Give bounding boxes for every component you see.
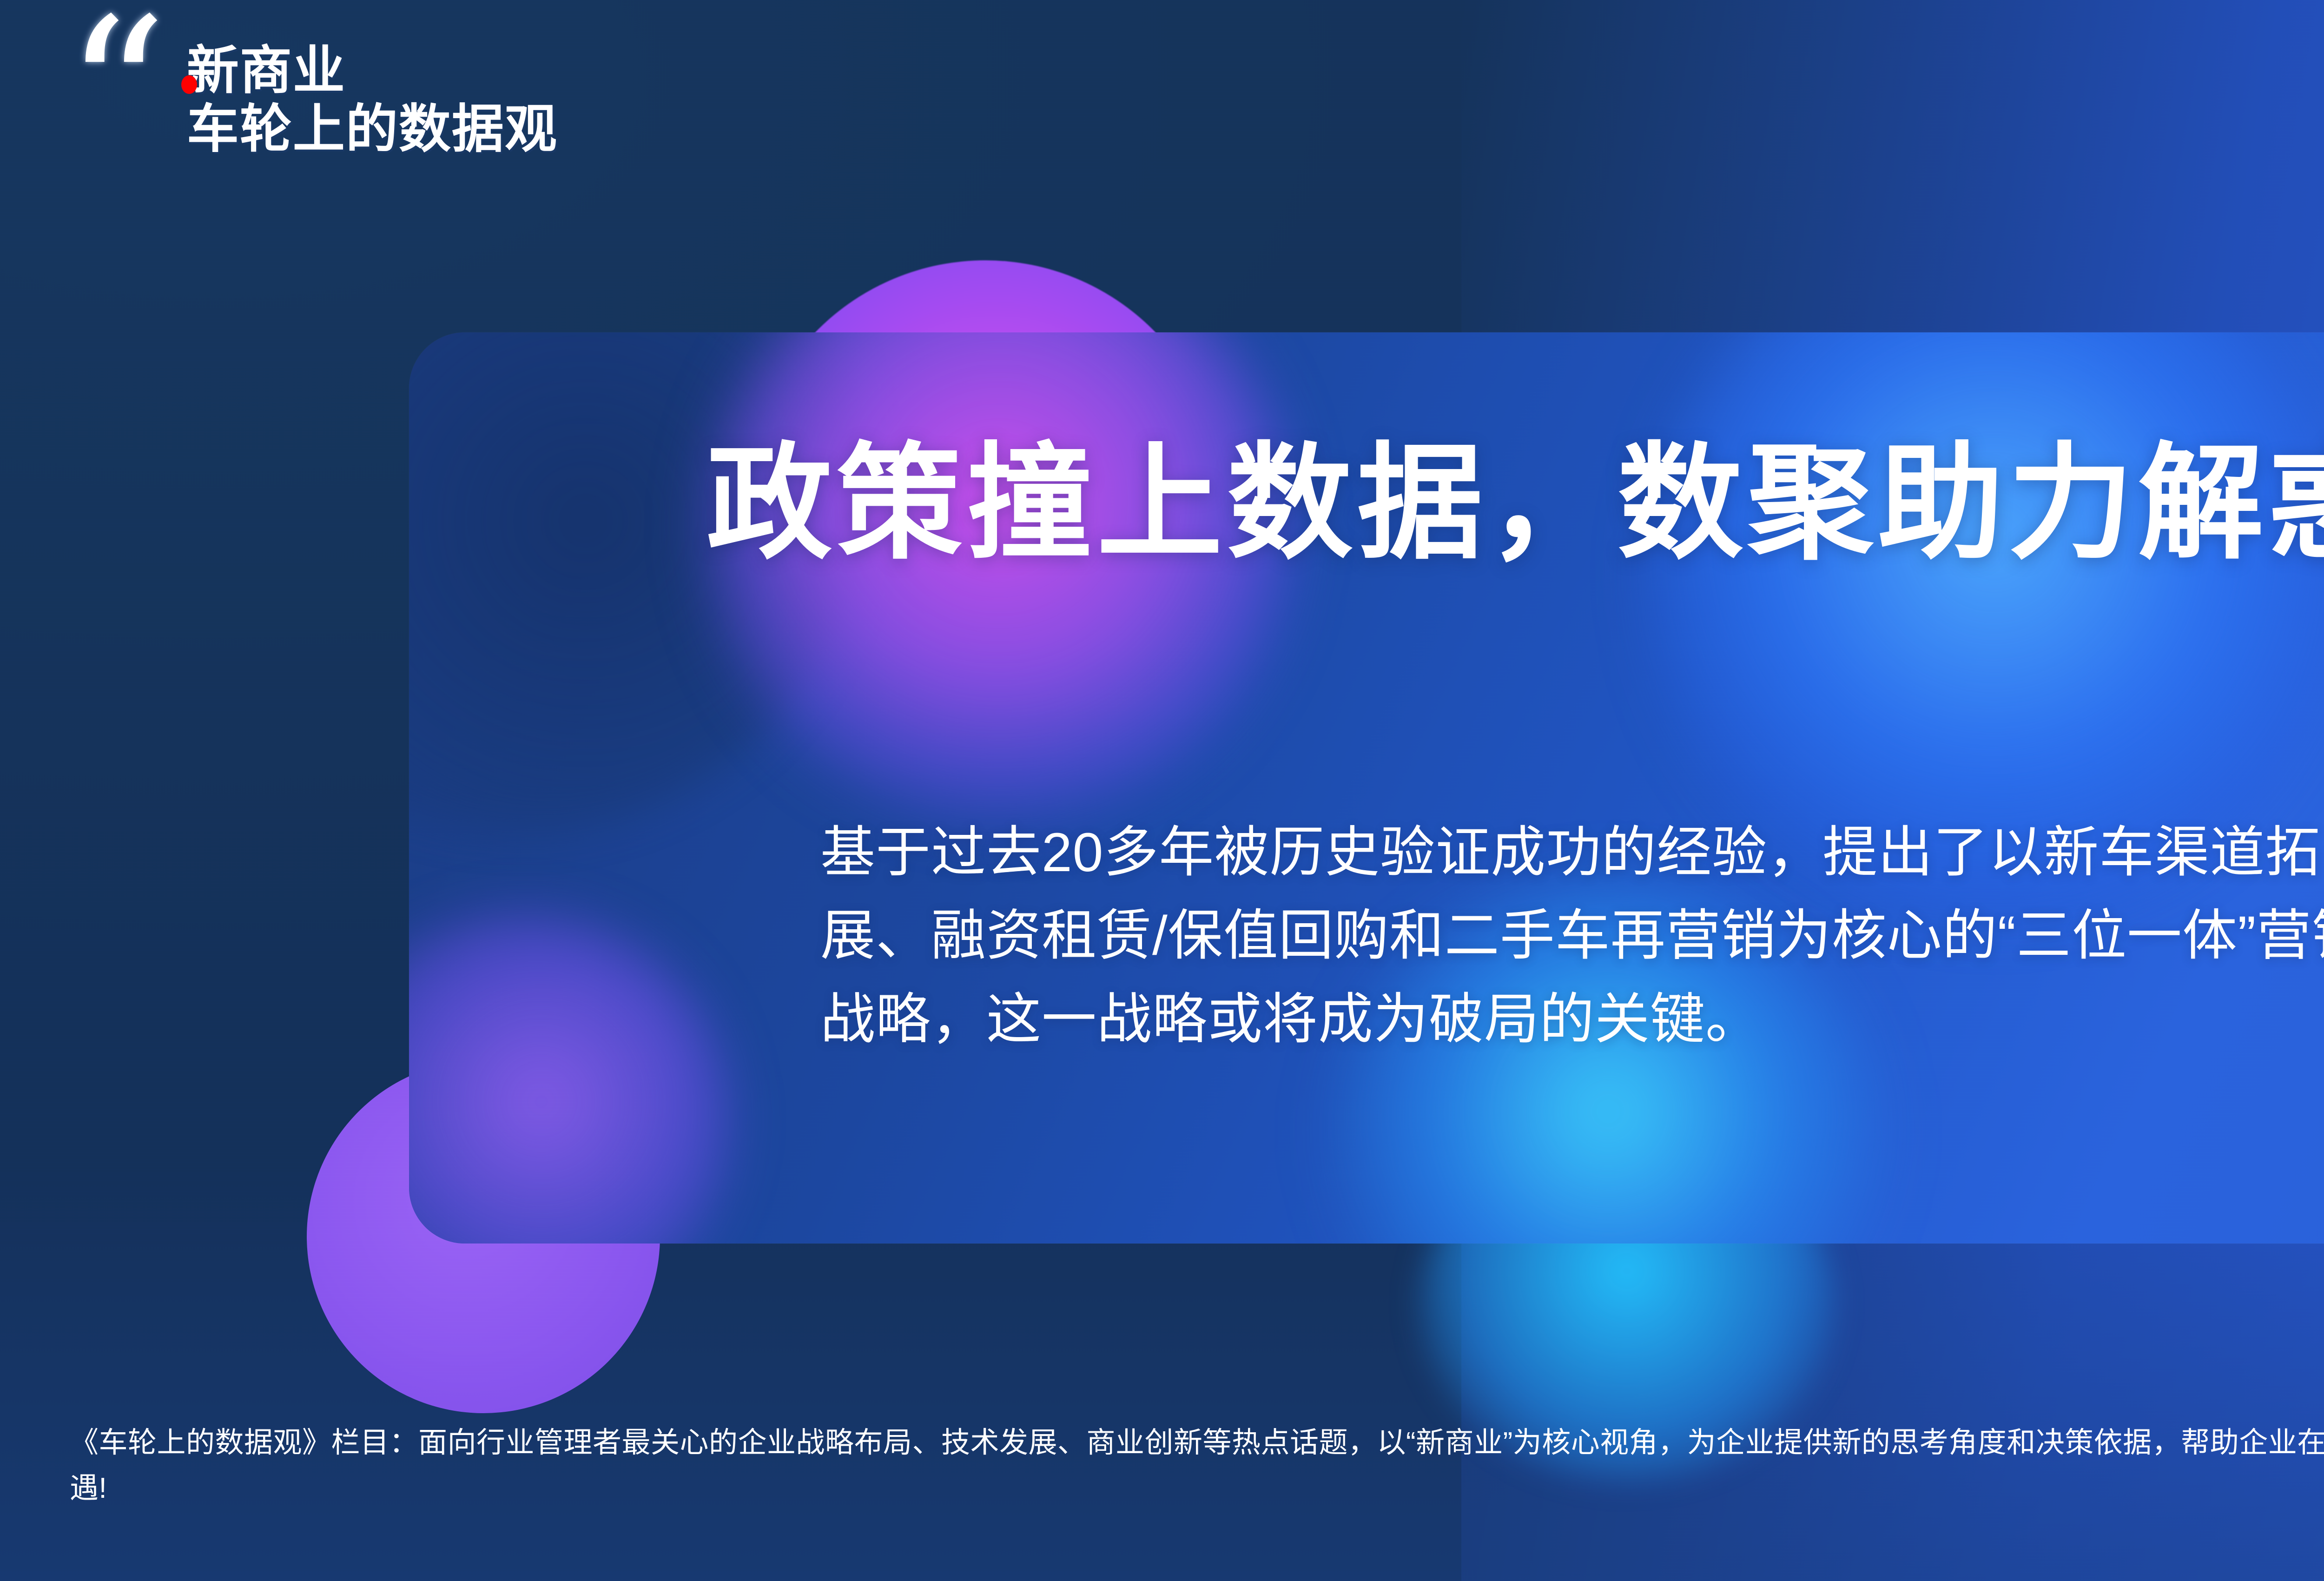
hero-card: 政策撞上数据，数聚助力解惑 基于过去20多年被历史验证成功的经验，提出了以新车渠… [409,332,2324,1244]
footer-description: 《车轮上的数据观》栏目：面向行业管理者最关心的企业战略布局、技术发展、商业创新等… [70,1420,2324,1511]
brand-name-secondary: 车轮上的数据观 [187,103,558,155]
double-quote-icon: “ [65,20,165,165]
brand-logo: “ 新商业 车轮上的数据观 [65,33,558,165]
hero-card-content: 政策撞上数据，数聚助力解惑 基于过去20多年被历史验证成功的经验，提出了以新车渠… [409,332,2324,1244]
brand-name-primary-label: 新商业 [187,41,346,99]
brand-name-primary: 新商业 [187,45,558,97]
brand-dot-icon [181,75,197,94]
poster-canvas: 政策撞上数据，数聚助力解惑 基于过去20多年被历史验证成功的经验，提出了以新车渠… [0,0,2324,1581]
brand-logo-text: 新商业 车轮上的数据观 [187,33,558,155]
page-title: 政策撞上数据，数聚助力解惑 [706,435,2324,573]
hero-body-text: 基于过去20多年被历史验证成功的经验，提出了以新车渠道拓展、融资租赁/保值回购和… [820,811,2324,1061]
